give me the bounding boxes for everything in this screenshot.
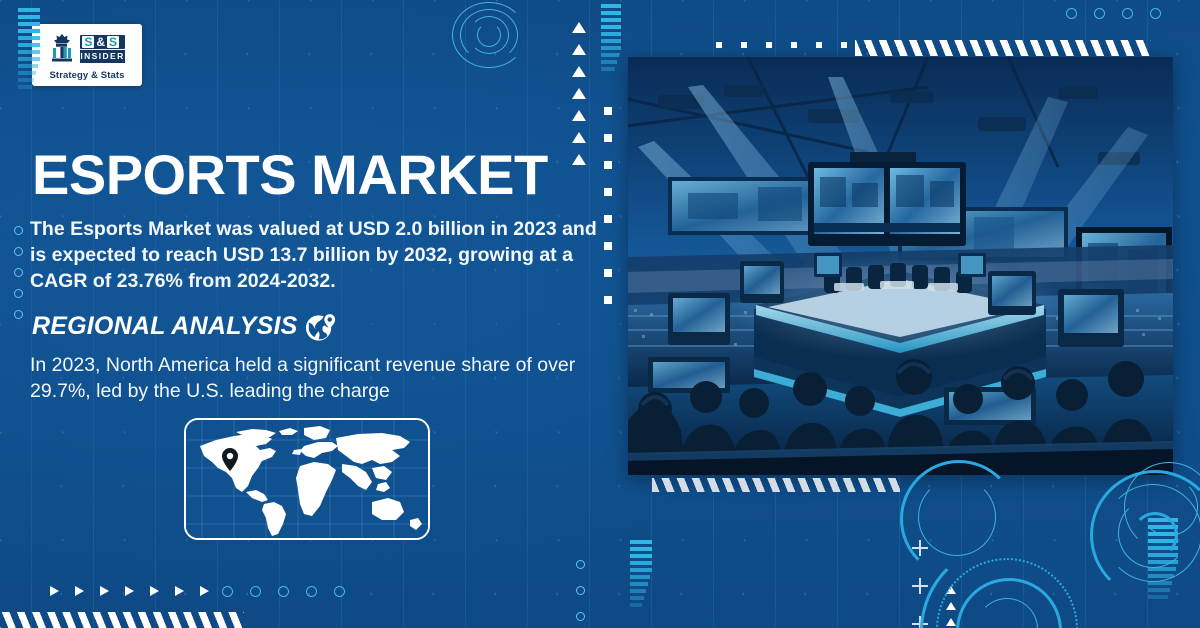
arrow-right-icon-row xyxy=(50,586,209,596)
circle-outline-icon xyxy=(306,586,317,597)
arrow-right-icon xyxy=(100,586,109,596)
logo-s-right: S xyxy=(107,36,119,48)
concentric-arc-icon-right-edge xyxy=(900,460,1020,580)
triangle-up-icon xyxy=(572,88,586,99)
chess-king-icon xyxy=(49,33,75,65)
world-map-card[interactable] xyxy=(184,418,430,540)
triangle-up-icon xyxy=(572,66,586,77)
arrow-right-icon xyxy=(75,586,84,596)
bar-stack-icon-top-left xyxy=(18,8,40,89)
logo-s-left: S xyxy=(82,36,94,48)
concentric-arc-icon-top xyxy=(452,2,532,74)
diagonal-hatch-icon-bottom xyxy=(652,478,900,492)
arrow-right-icon xyxy=(200,586,209,596)
square-icon xyxy=(791,42,797,48)
circle-outline-icon xyxy=(1150,8,1161,19)
circle-outline-icon xyxy=(334,586,345,597)
triangle-up-icon xyxy=(572,132,586,143)
triangle-up-icon xyxy=(572,22,586,33)
market-description: The Esports Market was valued at USD 2.0… xyxy=(30,216,610,294)
circle-outline-icon xyxy=(250,586,261,597)
square-icon xyxy=(716,42,722,48)
hero-image xyxy=(628,57,1173,475)
square-icon xyxy=(604,107,612,115)
regional-analysis-heading: REGIONAL ANALYSIS xyxy=(32,310,337,343)
circle-outline-icon xyxy=(576,612,585,621)
circle-outline-icon xyxy=(14,268,23,277)
diagonal-hatch-icon-footer xyxy=(0,612,244,628)
logo-tagline: Strategy & Stats xyxy=(50,70,125,81)
circle-outline-icon xyxy=(1122,8,1133,19)
logo-ss-block: S & S xyxy=(80,35,124,49)
diagonal-hatch-icon-top xyxy=(855,40,1151,56)
circle-outline-icon xyxy=(1094,8,1105,19)
bar-stack-icon-bottom-center xyxy=(630,540,652,607)
esports-arena-illustration xyxy=(628,57,1173,475)
circle-outline-icon xyxy=(14,310,23,319)
infographic-canvas: S & S INSIDER Strategy & Stats ESPORTS M… xyxy=(0,0,1200,628)
bar-stack-icon-top-center xyxy=(601,4,621,71)
regional-analysis-label: REGIONAL ANALYSIS xyxy=(32,312,297,341)
square-icon xyxy=(741,42,747,48)
square-icon xyxy=(766,42,772,48)
page-title: ESPORTS MARKET xyxy=(32,146,548,204)
circle-outline-icon-row xyxy=(222,586,345,597)
square-icon xyxy=(604,269,612,277)
circle-outline-icon xyxy=(222,586,233,597)
circle-outline-icon xyxy=(14,247,23,256)
arrow-right-icon xyxy=(125,586,134,596)
square-icon xyxy=(841,42,847,48)
arrow-right-icon xyxy=(175,586,184,596)
circle-outline-icon-row-top-right xyxy=(1066,8,1161,19)
concentric-arc-icon-top-right-low xyxy=(1124,462,1200,558)
logo-insider-text: INSIDER xyxy=(80,50,124,63)
logo-wordmark: S & S INSIDER xyxy=(80,35,124,63)
circle-outline-icon xyxy=(576,586,585,595)
square-icon xyxy=(604,161,612,169)
circle-outline-icon xyxy=(1066,8,1077,19)
arrow-right-icon xyxy=(150,586,159,596)
circle-outline-icon xyxy=(14,289,23,298)
square-icon xyxy=(604,215,612,223)
logo-top-row: S & S INSIDER xyxy=(49,29,124,67)
triangle-up-icon-column xyxy=(572,22,586,165)
triangle-up-icon xyxy=(572,154,586,165)
logo-ampersand: & xyxy=(95,36,106,48)
square-icon xyxy=(604,134,612,142)
globe-location-pin-icon xyxy=(304,310,337,343)
square-icon xyxy=(604,188,612,196)
square-icon xyxy=(604,296,612,304)
square-icon xyxy=(816,42,822,48)
square-icon-column xyxy=(604,107,612,304)
circle-outline-icon-column-bottom xyxy=(576,560,585,621)
square-icon-row-top xyxy=(716,42,872,48)
circle-outline-icon xyxy=(576,560,585,569)
circle-outline-icon-column xyxy=(14,226,23,319)
square-icon xyxy=(604,242,612,250)
triangle-up-icon xyxy=(572,110,586,121)
brand-logo[interactable]: S & S INSIDER Strategy & Stats xyxy=(32,24,142,86)
triangle-up-icon xyxy=(572,44,586,55)
regional-analysis-body: In 2023, North America held a significan… xyxy=(30,352,610,404)
circle-outline-icon xyxy=(14,226,23,235)
world-map xyxy=(186,420,428,538)
arrow-right-icon xyxy=(50,586,59,596)
circle-outline-icon xyxy=(278,586,289,597)
